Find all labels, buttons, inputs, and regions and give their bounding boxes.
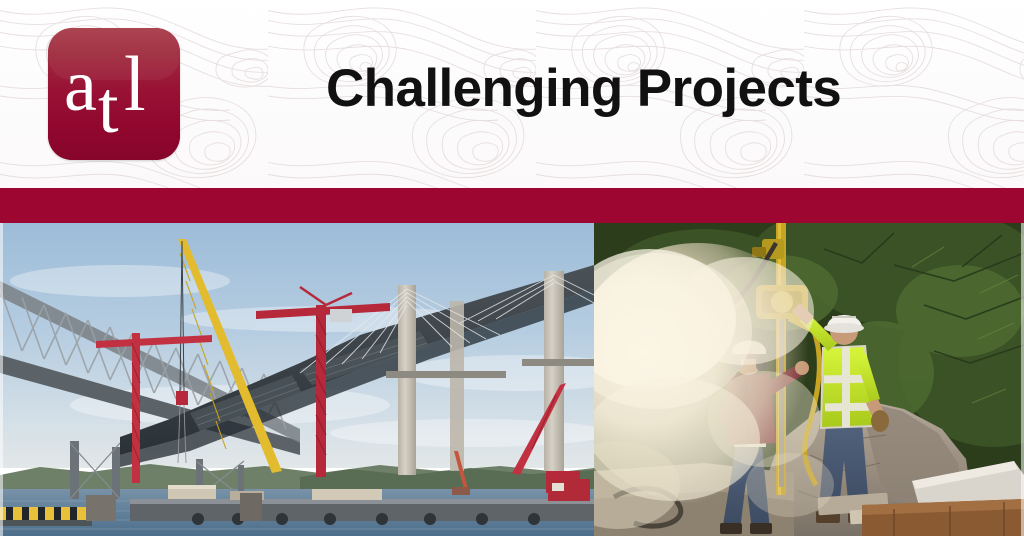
page-title: Challenging Projects <box>326 58 841 120</box>
svg-text:a: a <box>64 45 97 127</box>
photo-strip <box>0 223 1024 536</box>
svg-text:t: t <box>98 67 119 149</box>
rock-drilling-photo <box>594 223 1024 536</box>
red-divider-band <box>0 188 1024 223</box>
bridge-construction-photo <box>0 223 594 536</box>
page-root: a t l Challenging Projects <box>0 0 1024 536</box>
atl-logo[interactable]: a t l <box>48 28 180 160</box>
svg-text:l: l <box>124 40 146 127</box>
header-banner: a t l Challenging Projects <box>0 0 1024 188</box>
